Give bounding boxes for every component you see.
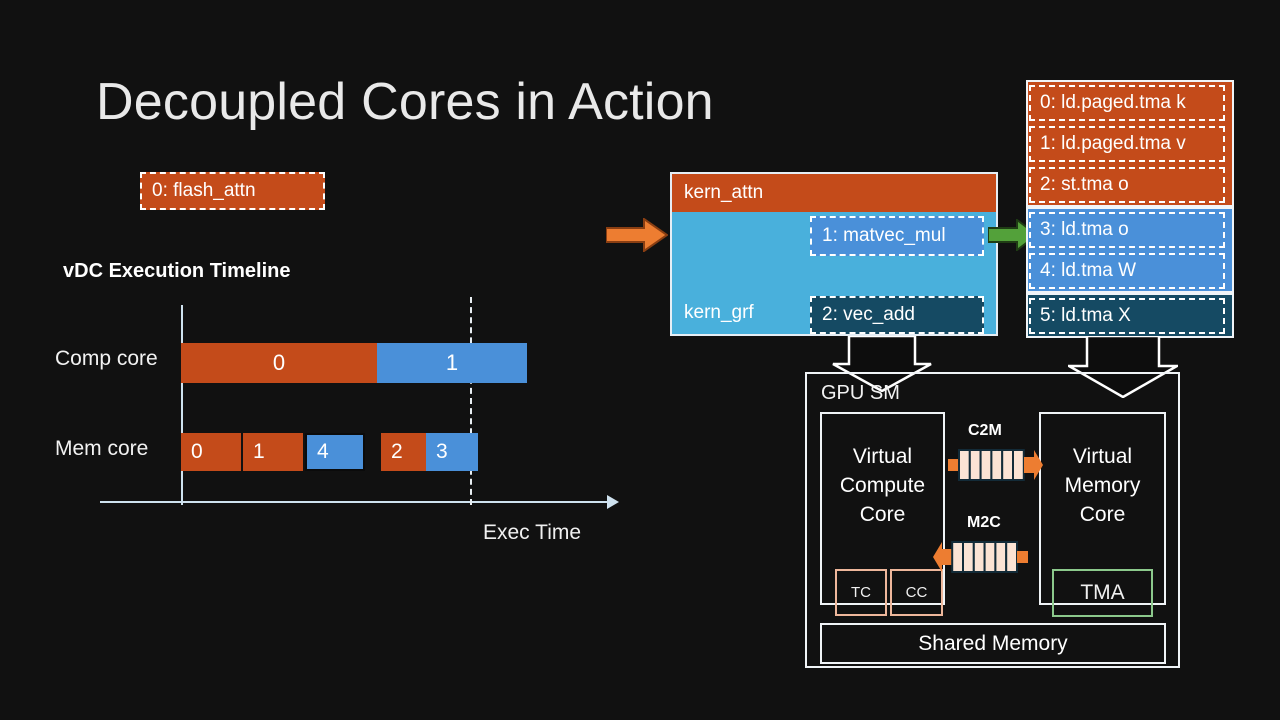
timeline-mem-segment: 0 — [181, 433, 241, 471]
timeline-mem-segment: 4 — [305, 433, 365, 471]
kernel-kern-attn[interactable]: kern_attn — [672, 174, 996, 212]
kernel-instruction-vec-add[interactable]: 2: vec_add — [810, 296, 984, 334]
instruction-item[interactable]: 3: ld.tma o — [1029, 212, 1225, 248]
kernel-kern-attn-label: kern_attn — [684, 182, 763, 204]
timeline-axis-arrow-icon — [607, 495, 619, 509]
virtual-compute-core-title: Virtual Compute Core — [840, 442, 925, 529]
instruction-item[interactable]: 1: ld.paged.tma v — [1029, 126, 1225, 162]
timeline-mem-segment: 3 — [426, 433, 478, 471]
tma-unit[interactable]: TMA — [1052, 569, 1153, 617]
m2c-queue-icon — [932, 538, 1028, 576]
timeline-vertical-axis — [181, 305, 183, 505]
instruction-group: 0: ld.paged.tma k1: ld.paged.tma v2: st.… — [1026, 80, 1234, 207]
gpu-sm-label: GPU SM — [821, 382, 900, 405]
c2m-queue-label: C2M — [968, 422, 1002, 440]
shared-memory-box[interactable]: Shared Memory — [820, 623, 1166, 664]
timeline-heading: vDC Execution Timeline — [63, 260, 290, 283]
instruction-item[interactable]: 2: st.tma o — [1029, 167, 1225, 203]
c2m-queue-icon — [948, 446, 1044, 484]
kernel-kern-grf-label: kern_grf — [684, 302, 754, 324]
vdc-execution-timeline-panel: vDC Execution Timeline Comp core Mem cor… — [55, 255, 595, 555]
timeline-dashed-marker — [470, 297, 472, 505]
kernel-instruction-flash-attn[interactable]: 0: flash_attn — [140, 172, 325, 210]
page-title: Decoupled Cores in Action — [96, 72, 714, 132]
timeline-row-label-mem-core: Mem core — [55, 437, 148, 461]
orange-input-arrow-icon — [606, 218, 668, 252]
instruction-group: 3: ld.tma o4: ld.tma W — [1026, 207, 1234, 293]
timeline-axis-title: Exec Time — [483, 521, 581, 545]
timeline-horizontal-axis — [100, 501, 612, 503]
m2c-queue-label: M2C — [967, 514, 1001, 532]
vcc-title-line-1: Virtual — [840, 442, 925, 471]
vcc-title-line-2: Compute — [840, 471, 925, 500]
vmc-title-line-2: Memory — [1065, 471, 1141, 500]
vcc-title-line-3: Core — [840, 500, 925, 529]
instruction-group: 5: ld.tma X — [1026, 293, 1234, 338]
instruction-item[interactable]: 4: ld.tma W — [1029, 253, 1225, 289]
virtual-memory-core-title: Virtual Memory Core — [1065, 442, 1141, 529]
kernel-instruction-matvec-mul[interactable]: 1: matvec_mul — [810, 216, 984, 256]
vmc-title-line-3: Core — [1065, 500, 1141, 529]
tensor-core-unit-tc[interactable]: TC — [835, 569, 887, 616]
instruction-item[interactable]: 5: ld.tma X — [1029, 298, 1225, 334]
instruction-item[interactable]: 0: ld.paged.tma k — [1029, 85, 1225, 121]
timeline-comp-segment: 1 — [377, 343, 527, 383]
cuda-core-unit-cc[interactable]: CC — [890, 569, 943, 616]
timeline-comp-segment: 0 — [181, 343, 377, 383]
vmc-title-line-1: Virtual — [1065, 442, 1141, 471]
timeline-mem-segment: 1 — [243, 433, 303, 471]
slide-canvas: Decoupled Cores in Action vDC Execution … — [0, 0, 1280, 720]
timeline-row-label-comp-core: Comp core — [55, 347, 158, 371]
timeline-mem-segment: 2 — [381, 433, 426, 471]
